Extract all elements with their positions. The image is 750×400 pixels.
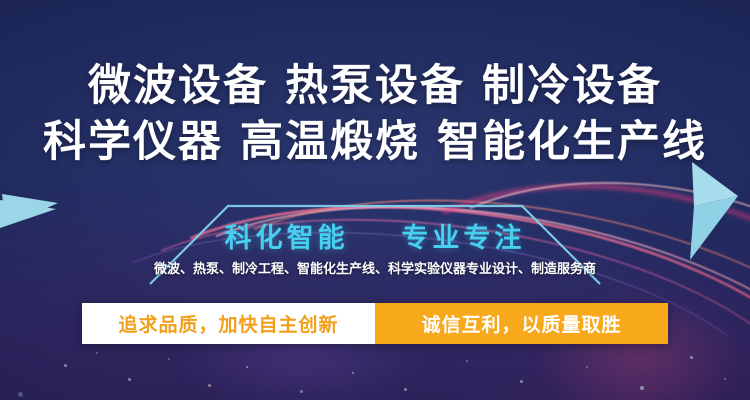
slogan-left: 科化智能: [225, 223, 349, 254]
badge-quality[interactable]: 追求品质，加快自主创新: [82, 303, 375, 344]
slogan-text: 科化智能 专业专注: [0, 216, 750, 255]
headline-line-1: 微波设备 热泵设备 制冷设备: [0, 58, 750, 114]
badge-integrity[interactable]: 诚信互利，以质量取胜: [375, 303, 668, 344]
headline-line-2: 科学仪器 高温煅烧 智能化生产线: [0, 114, 750, 170]
promo-banner: 微波设备 热泵设备 制冷设备 科学仪器 高温煅烧 智能化生产线 科化智能 专业专…: [0, 0, 750, 400]
badge-row: 追求品质，加快自主创新 诚信互利，以质量取胜: [82, 303, 668, 344]
headline: 微波设备 热泵设备 制冷设备 科学仪器 高温煅烧 智能化生产线: [0, 58, 750, 170]
slogan-block: 科化智能 专业专注 微波、热泵、制冷工程、智能化生产线、科学实验仪器专业设计、制…: [0, 196, 750, 286]
slogan-subtitle: 微波、热泵、制冷工程、智能化生产线、科学实验仪器专业设计、制造服务商: [0, 258, 750, 277]
slogan-right: 专业专注: [401, 223, 525, 254]
